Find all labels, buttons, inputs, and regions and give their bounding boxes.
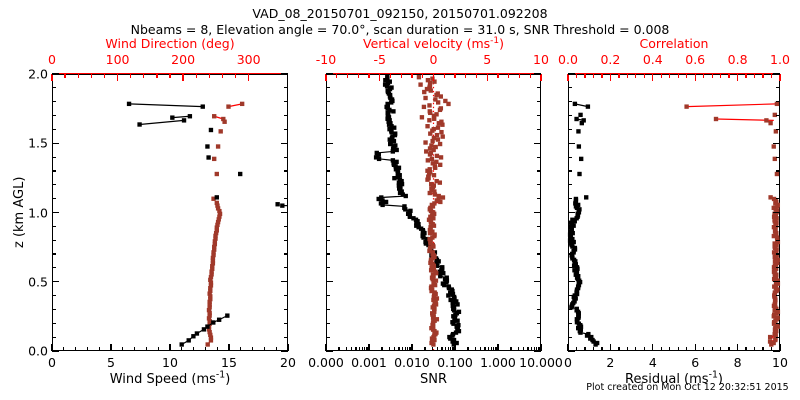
figure-title: VAD_08_20150701_092150, 20150701.092208 — [0, 6, 800, 21]
bottom-minor-tick — [405, 347, 406, 351]
y-minor-tick — [568, 295, 572, 296]
y-major-tick — [52, 143, 59, 144]
top-minor-tick — [762, 74, 763, 78]
y-minor-tick — [568, 87, 572, 88]
panel-snr-plotarea — [327, 75, 540, 350]
y-minor-tick-right — [776, 157, 780, 158]
snr-series — [374, 75, 461, 347]
top-minor-tick — [720, 74, 721, 78]
bottom-minor-tick — [484, 347, 485, 351]
bottom-minor-tick — [445, 347, 446, 351]
wind-direction-series — [206, 102, 245, 347]
y-major-tick-right — [773, 350, 780, 351]
top-axis-title: Vertical velocity (ms-1) — [363, 36, 504, 51]
bottom-minor-tick — [661, 347, 662, 351]
y-tick-label: 1.0 — [16, 205, 48, 220]
top-minor-tick — [336, 74, 337, 78]
top-minor-tick — [635, 74, 636, 78]
bottom-minor-tick — [491, 347, 492, 351]
bottom-minor-tick — [366, 347, 367, 351]
y-minor-tick-right — [776, 129, 780, 130]
y-minor-tick — [326, 115, 330, 116]
y-minor-tick — [326, 129, 330, 130]
y-minor-tick — [52, 129, 56, 130]
bottom-major-tick — [652, 344, 653, 351]
top-minor-tick — [712, 74, 713, 78]
y-minor-tick — [52, 226, 56, 227]
bottom-minor-tick — [771, 347, 772, 351]
top-minor-tick — [728, 74, 729, 78]
y-minor-tick — [52, 198, 56, 199]
y-minor-tick-right — [284, 115, 288, 116]
y-minor-tick-right — [776, 240, 780, 241]
bottom-tick-label: 6 — [691, 355, 699, 370]
bottom-tick-label: 20 — [280, 355, 296, 370]
top-minor-tick — [703, 74, 704, 78]
plot-created-footer: Plot created on Mon Oct 12 20:32:51 2015 — [575, 382, 800, 393]
y-minor-tick — [326, 226, 330, 227]
bottom-minor-tick — [87, 347, 88, 351]
bottom-minor-tick — [99, 347, 100, 351]
top-major-tick — [540, 74, 541, 81]
y-tick-label: 2.0 — [16, 67, 48, 82]
top-minor-tick — [235, 74, 236, 78]
y-tick-label: 0.0 — [16, 344, 48, 359]
y-major-tick-right — [773, 212, 780, 213]
y-major-tick — [52, 212, 59, 213]
bottom-axis-title: SNR — [420, 372, 447, 387]
bottom-minor-tick — [424, 347, 425, 351]
top-minor-tick — [78, 74, 79, 78]
bottom-minor-tick — [63, 347, 64, 351]
top-minor-tick — [618, 74, 619, 78]
bottom-tick-label: 2 — [606, 355, 614, 370]
bottom-minor-tick — [381, 347, 382, 351]
bottom-tick-label: 0.010 — [394, 355, 430, 370]
bottom-minor-tick — [493, 347, 494, 351]
y-minor-tick-right — [284, 337, 288, 338]
bottom-minor-tick — [389, 347, 390, 351]
top-tick-label: 5 — [483, 52, 491, 67]
bottom-minor-tick — [276, 347, 277, 351]
top-minor-tick — [530, 74, 531, 78]
y-minor-tick — [52, 267, 56, 268]
y-minor-tick — [52, 337, 56, 338]
top-tick-label: 10 — [533, 52, 549, 67]
y-minor-tick-right — [776, 198, 780, 199]
y-minor-tick-right — [776, 115, 780, 116]
y-tick-label: 1.5 — [16, 136, 48, 151]
top-minor-tick — [169, 74, 170, 78]
y-major-tick — [568, 350, 575, 351]
bottom-minor-tick — [394, 347, 395, 351]
top-major-tick — [779, 74, 780, 81]
bottom-minor-tick — [618, 347, 619, 351]
bottom-minor-tick — [448, 347, 449, 351]
top-tick-label: 0.0 — [558, 52, 578, 67]
bottom-major-tick — [610, 344, 611, 351]
top-minor-tick — [584, 74, 585, 78]
y-minor-tick — [568, 157, 572, 158]
top-tick-label: -10 — [316, 52, 336, 67]
top-minor-tick — [669, 74, 670, 78]
y-major-tick — [326, 73, 333, 74]
y-minor-tick — [568, 240, 572, 241]
y-major-tick-right — [773, 143, 780, 144]
bottom-minor-tick — [584, 347, 585, 351]
panel-snr — [326, 74, 541, 351]
y-minor-tick — [52, 115, 56, 116]
top-minor-tick — [644, 74, 645, 78]
bottom-tick-label: 0.000 — [308, 355, 344, 370]
y-major-tick — [568, 212, 575, 213]
bottom-minor-tick — [355, 347, 356, 351]
bottom-major-tick — [169, 344, 170, 351]
top-tick-label: 0.8 — [728, 52, 748, 67]
top-minor-tick — [754, 74, 755, 78]
y-minor-tick-right — [537, 198, 541, 199]
bottom-minor-tick — [402, 347, 403, 351]
top-minor-tick — [156, 74, 157, 78]
top-minor-tick — [444, 74, 445, 78]
y-minor-tick-right — [537, 184, 541, 185]
bottom-minor-tick — [712, 347, 713, 351]
y-minor-tick-right — [284, 157, 288, 158]
top-major-tick — [379, 74, 380, 81]
bottom-minor-tick — [240, 347, 241, 351]
bottom-minor-tick — [217, 347, 218, 351]
y-minor-tick — [568, 226, 572, 227]
y-minor-tick-right — [537, 170, 541, 171]
y-minor-tick-right — [284, 170, 288, 171]
top-minor-tick — [222, 74, 223, 78]
bottom-minor-tick — [728, 347, 729, 351]
y-major-tick-right — [773, 281, 780, 282]
y-major-tick-right — [281, 281, 288, 282]
plot-figure: VAD_08_20150701_092150, 20150701.092208 … — [0, 0, 800, 400]
y-minor-tick-right — [776, 87, 780, 88]
top-minor-tick — [627, 74, 628, 78]
y-minor-tick-right — [284, 184, 288, 185]
y-minor-tick-right — [284, 101, 288, 102]
bottom-minor-tick — [495, 347, 496, 351]
bottom-minor-tick — [134, 347, 135, 351]
top-minor-tick — [476, 74, 477, 78]
bottom-minor-tick — [644, 347, 645, 351]
y-minor-tick — [326, 198, 330, 199]
y-minor-tick — [326, 267, 330, 268]
bottom-minor-tick — [364, 347, 365, 351]
bottom-minor-tick — [488, 347, 489, 351]
y-minor-tick — [568, 337, 572, 338]
bottom-tick-label: 15 — [221, 355, 237, 370]
y-minor-tick — [568, 184, 572, 185]
y-minor-tick — [52, 101, 56, 102]
bottom-minor-tick — [452, 347, 453, 351]
bottom-minor-tick — [480, 347, 481, 351]
top-tick-label: 100 — [106, 52, 130, 67]
top-major-tick — [182, 74, 183, 81]
top-axis-line — [568, 73, 780, 74]
bottom-minor-tick — [475, 347, 476, 351]
bottom-minor-tick — [593, 347, 594, 351]
y-minor-tick — [568, 267, 572, 268]
bottom-tick-label: 10.000 — [519, 355, 563, 370]
bottom-minor-tick — [181, 347, 182, 351]
y-minor-tick — [568, 101, 572, 102]
y-minor-tick-right — [776, 226, 780, 227]
y-minor-tick — [568, 253, 572, 254]
bottom-tick-label: 10 — [162, 355, 178, 370]
top-tick-label: 0.4 — [643, 52, 663, 67]
y-minor-tick-right — [537, 253, 541, 254]
bottom-tick-label: 1.000 — [480, 355, 516, 370]
y-minor-tick — [326, 101, 330, 102]
top-minor-tick — [347, 74, 348, 78]
top-minor-tick — [508, 74, 509, 78]
top-minor-tick — [593, 74, 594, 78]
bottom-minor-tick — [450, 347, 451, 351]
top-minor-tick — [196, 74, 197, 78]
y-major-tick-right — [534, 281, 541, 282]
y-minor-tick-right — [284, 240, 288, 241]
top-major-tick — [695, 74, 696, 81]
top-minor-tick — [745, 74, 746, 78]
bottom-major-tick — [737, 344, 738, 351]
panel-residual — [568, 74, 780, 351]
bottom-minor-tick — [351, 347, 352, 351]
y-minor-tick — [52, 253, 56, 254]
bottom-minor-tick — [762, 347, 763, 351]
y-minor-tick — [326, 253, 330, 254]
top-major-tick — [433, 74, 434, 81]
y-minor-tick — [52, 157, 56, 158]
y-minor-tick — [326, 323, 330, 324]
y-minor-tick — [568, 129, 572, 130]
bottom-minor-tick — [531, 347, 532, 351]
top-minor-tick — [368, 74, 369, 78]
y-major-tick-right — [281, 143, 288, 144]
y-minor-tick-right — [537, 115, 541, 116]
bottom-axis-title: Wind Speed (ms-1) — [110, 372, 231, 387]
bottom-minor-tick — [635, 347, 636, 351]
bottom-major-tick — [497, 344, 498, 351]
panel-wind-plotarea — [53, 75, 287, 350]
y-minor-tick-right — [284, 295, 288, 296]
y-minor-tick — [326, 184, 330, 185]
y-minor-tick-right — [537, 337, 541, 338]
bottom-minor-tick — [441, 347, 442, 351]
panel-residual-plotarea — [569, 75, 779, 350]
bottom-minor-tick — [398, 347, 399, 351]
top-minor-tick — [519, 74, 520, 78]
y-minor-tick-right — [776, 309, 780, 310]
bottom-tick-label: 10 — [772, 355, 788, 370]
top-minor-tick — [358, 74, 359, 78]
y-tick-label: 0.5 — [16, 274, 48, 289]
top-axis-title: Wind Direction (deg) — [105, 36, 234, 51]
y-minor-tick-right — [537, 87, 541, 88]
panel-wind — [52, 74, 288, 351]
residual-series — [568, 102, 599, 347]
bottom-minor-tick — [678, 347, 679, 351]
y-minor-tick-right — [284, 226, 288, 227]
bottom-minor-tick — [467, 347, 468, 351]
bottom-minor-tick — [362, 347, 363, 351]
top-minor-tick — [104, 74, 105, 78]
bottom-minor-tick — [409, 347, 410, 351]
bottom-minor-tick — [75, 347, 76, 351]
top-tick-label: 0 — [430, 52, 438, 67]
y-minor-tick — [52, 295, 56, 296]
y-minor-tick-right — [284, 309, 288, 310]
y-minor-tick — [52, 309, 56, 310]
top-tick-label: 1.0 — [770, 52, 790, 67]
bottom-minor-tick — [359, 347, 360, 351]
bottom-minor-tick — [720, 347, 721, 351]
top-tick-label: 0 — [48, 52, 56, 67]
y-minor-tick-right — [284, 253, 288, 254]
y-minor-tick-right — [776, 170, 780, 171]
y-major-tick — [568, 281, 575, 282]
top-minor-tick — [686, 74, 687, 78]
top-major-tick — [737, 74, 738, 81]
y-major-tick-right — [281, 212, 288, 213]
top-tick-label: 200 — [171, 52, 195, 67]
y-minor-tick-right — [537, 157, 541, 158]
bottom-minor-tick — [576, 347, 577, 351]
bottom-minor-tick — [518, 347, 519, 351]
y-minor-tick — [52, 323, 56, 324]
y-minor-tick-right — [284, 198, 288, 199]
bottom-minor-tick — [252, 347, 253, 351]
bottom-minor-tick — [407, 347, 408, 351]
top-minor-tick — [661, 74, 662, 78]
bottom-minor-tick — [510, 347, 511, 351]
y-minor-tick — [326, 157, 330, 158]
top-minor-tick — [465, 74, 466, 78]
y-minor-tick — [326, 170, 330, 171]
y-major-tick — [52, 350, 59, 351]
top-minor-tick — [678, 74, 679, 78]
bottom-minor-tick — [745, 347, 746, 351]
y-minor-tick-right — [537, 240, 541, 241]
y-minor-tick-right — [537, 226, 541, 227]
y-major-tick — [568, 73, 575, 74]
bottom-minor-tick — [205, 347, 206, 351]
bottom-minor-tick — [158, 347, 159, 351]
y-minor-tick — [52, 184, 56, 185]
bottom-major-tick — [228, 344, 229, 351]
y-minor-tick-right — [537, 101, 541, 102]
y-minor-tick-right — [284, 87, 288, 88]
top-tick-label: 0.6 — [685, 52, 705, 67]
bottom-minor-tick — [432, 347, 433, 351]
top-minor-tick — [130, 74, 131, 78]
top-minor-tick — [497, 74, 498, 78]
bottom-minor-tick — [338, 347, 339, 351]
top-major-tick — [51, 74, 52, 81]
y-minor-tick — [568, 115, 572, 116]
bottom-minor-tick — [669, 347, 670, 351]
bottom-minor-tick — [686, 347, 687, 351]
top-major-tick — [248, 74, 249, 81]
top-minor-tick — [64, 74, 65, 78]
y-major-tick — [326, 143, 333, 144]
y-major-tick — [568, 143, 575, 144]
top-major-tick — [117, 74, 118, 81]
y-minor-tick — [52, 240, 56, 241]
top-minor-tick — [143, 74, 144, 78]
y-minor-tick-right — [284, 267, 288, 268]
bottom-major-tick — [368, 344, 369, 351]
top-tick-label: -5 — [374, 52, 386, 67]
y-major-tick-right — [281, 73, 288, 74]
top-minor-tick — [411, 74, 412, 78]
bottom-tick-label: 5 — [107, 355, 115, 370]
y-minor-tick-right — [284, 129, 288, 130]
bottom-minor-tick — [146, 347, 147, 351]
bottom-tick-label: 8 — [734, 355, 742, 370]
y-minor-tick-right — [776, 295, 780, 296]
y-major-tick — [326, 350, 333, 351]
top-minor-tick — [576, 74, 577, 78]
y-minor-tick-right — [537, 309, 541, 310]
y-minor-tick-right — [776, 184, 780, 185]
bottom-minor-tick — [627, 347, 628, 351]
y-minor-tick — [52, 170, 56, 171]
y-minor-tick-right — [776, 253, 780, 254]
top-axis-title: Correlation — [640, 36, 709, 51]
y-major-tick — [52, 281, 59, 282]
bottom-tick-label: 0.001 — [351, 355, 387, 370]
y-minor-tick-right — [776, 337, 780, 338]
bottom-minor-tick — [437, 347, 438, 351]
bottom-minor-tick — [193, 347, 194, 351]
y-major-tick-right — [534, 212, 541, 213]
y-major-tick-right — [534, 350, 541, 351]
y-minor-tick — [568, 198, 572, 199]
y-minor-tick-right — [776, 323, 780, 324]
y-major-tick-right — [534, 143, 541, 144]
y-minor-tick-right — [776, 101, 780, 102]
y-minor-tick — [568, 309, 572, 310]
bottom-tick-label: 0 — [48, 355, 56, 370]
top-tick-label: 0.2 — [600, 52, 620, 67]
bottom-minor-tick — [122, 347, 123, 351]
correlation-series — [684, 102, 780, 347]
top-major-tick — [567, 74, 568, 81]
top-major-tick — [325, 74, 326, 81]
top-major-tick — [610, 74, 611, 81]
top-minor-tick — [390, 74, 391, 78]
y-minor-tick-right — [537, 295, 541, 296]
bottom-major-tick — [411, 344, 412, 351]
y-major-tick-right — [534, 73, 541, 74]
bottom-minor-tick — [527, 347, 528, 351]
bottom-minor-tick — [703, 347, 704, 351]
top-minor-tick — [601, 74, 602, 78]
bottom-minor-tick — [346, 347, 347, 351]
y-minor-tick-right — [776, 267, 780, 268]
top-minor-tick — [454, 74, 455, 78]
top-minor-tick — [401, 74, 402, 78]
top-minor-tick — [91, 74, 92, 78]
y-minor-tick — [326, 309, 330, 310]
bottom-major-tick — [110, 344, 111, 351]
bottom-minor-tick — [754, 347, 755, 351]
bottom-tick-label: 0 — [564, 355, 572, 370]
